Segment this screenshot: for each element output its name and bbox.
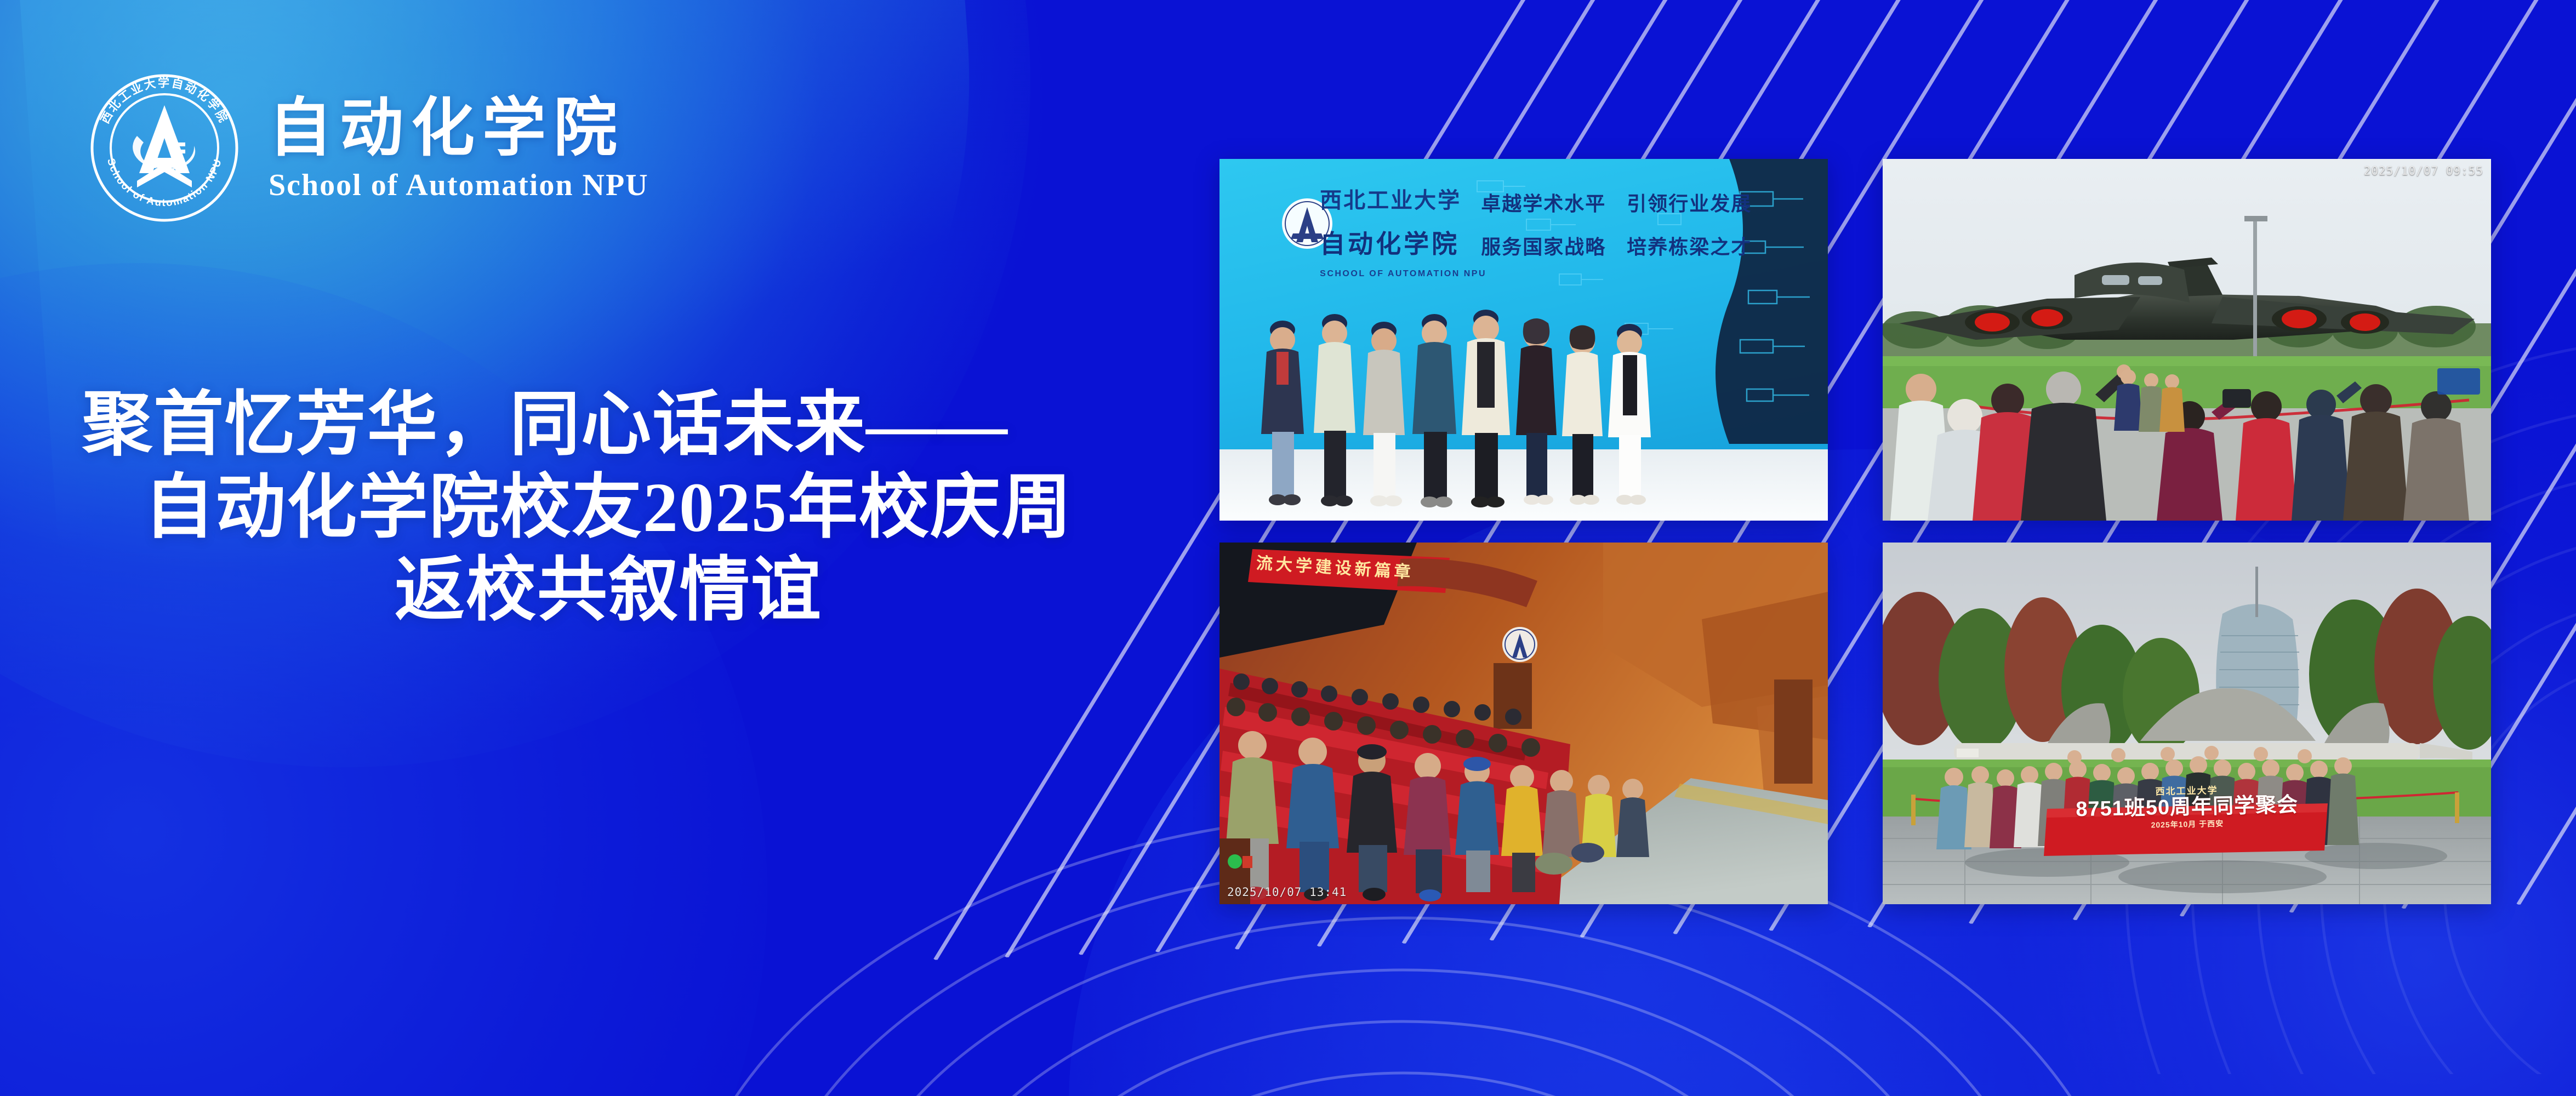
backdrop-slogan-line-1: 卓越学术水平 引领行业发展: [1481, 188, 1752, 216]
backdrop-text-block: 西北工业大学 自动化学院 SCHOOL OF AUTOMATION NPU 卓越…: [1219, 159, 1828, 521]
photo-class-reunion-sculpture[interactable]: 西北工业大学 8751班50周年同学聚会 2025年10月 于西安: [1883, 543, 2491, 904]
page-title-line-1: 聚首忆芳华，同心话未来——: [82, 384, 1135, 466]
reunion-banner: 西北工业大学 8751班50周年同学聚会 2025年10月 于西安: [2053, 780, 2321, 832]
photo-group-backdrop[interactable]: 西北工业大学 自动化学院 SCHOOL OF AUTOMATION NPU 卓越…: [1219, 159, 1828, 521]
backdrop-school-name: 自动化学院: [1320, 224, 1460, 260]
page-title: 聚首忆芳华，同心话未来—— 自动化学院校友2025年校庆周 返校共叙情谊: [82, 384, 1135, 632]
photo-class-reunion-image: [1883, 543, 2491, 904]
photo-auditorium-assembly[interactable]: 流大学建设新篇章 2025/10/07 13:41: [1219, 543, 1828, 904]
photo-aircraft-visit[interactable]: 2025/10/07 09:55: [1883, 159, 2491, 521]
brand-logo-lockup: 西北工业大学自动化学院 School of Automation NPU 自动化…: [82, 66, 649, 230]
photo-timestamp: 2025/10/07 09:55: [2364, 164, 2483, 178]
backdrop-school-name-en: SCHOOL OF AUTOMATION NPU: [1320, 269, 1486, 279]
backdrop-slogan-line-2: 服务国家战略 培养栋梁之才: [1481, 231, 1752, 260]
photo-auditorium-assembly-image: [1219, 543, 1828, 904]
npu-automation-emblem-icon: 西北工业大学自动化学院 School of Automation NPU: [82, 66, 247, 230]
alumni-homecoming-banner: 西北工业大学自动化学院 School of Automation NPU 自动化…: [0, 0, 2576, 1096]
brand-name-en: School of Automation NPU: [269, 169, 649, 203]
brand-name-cn: 自动化学院: [269, 96, 649, 161]
page-title-line-3: 返校共叙情谊: [82, 549, 1135, 632]
backdrop-university-name: 西北工业大学: [1320, 182, 1461, 214]
photo-gallery-grid: 西北工业大学 自动化学院 SCHOOL OF AUTOMATION NPU 卓越…: [1219, 159, 2491, 954]
photo-timestamp: 2025/10/07 13:41: [1227, 886, 1347, 899]
page-title-line-2: 自动化学院校友2025年校庆周: [82, 466, 1135, 549]
photo-aircraft-visit-image: [1883, 159, 2491, 521]
